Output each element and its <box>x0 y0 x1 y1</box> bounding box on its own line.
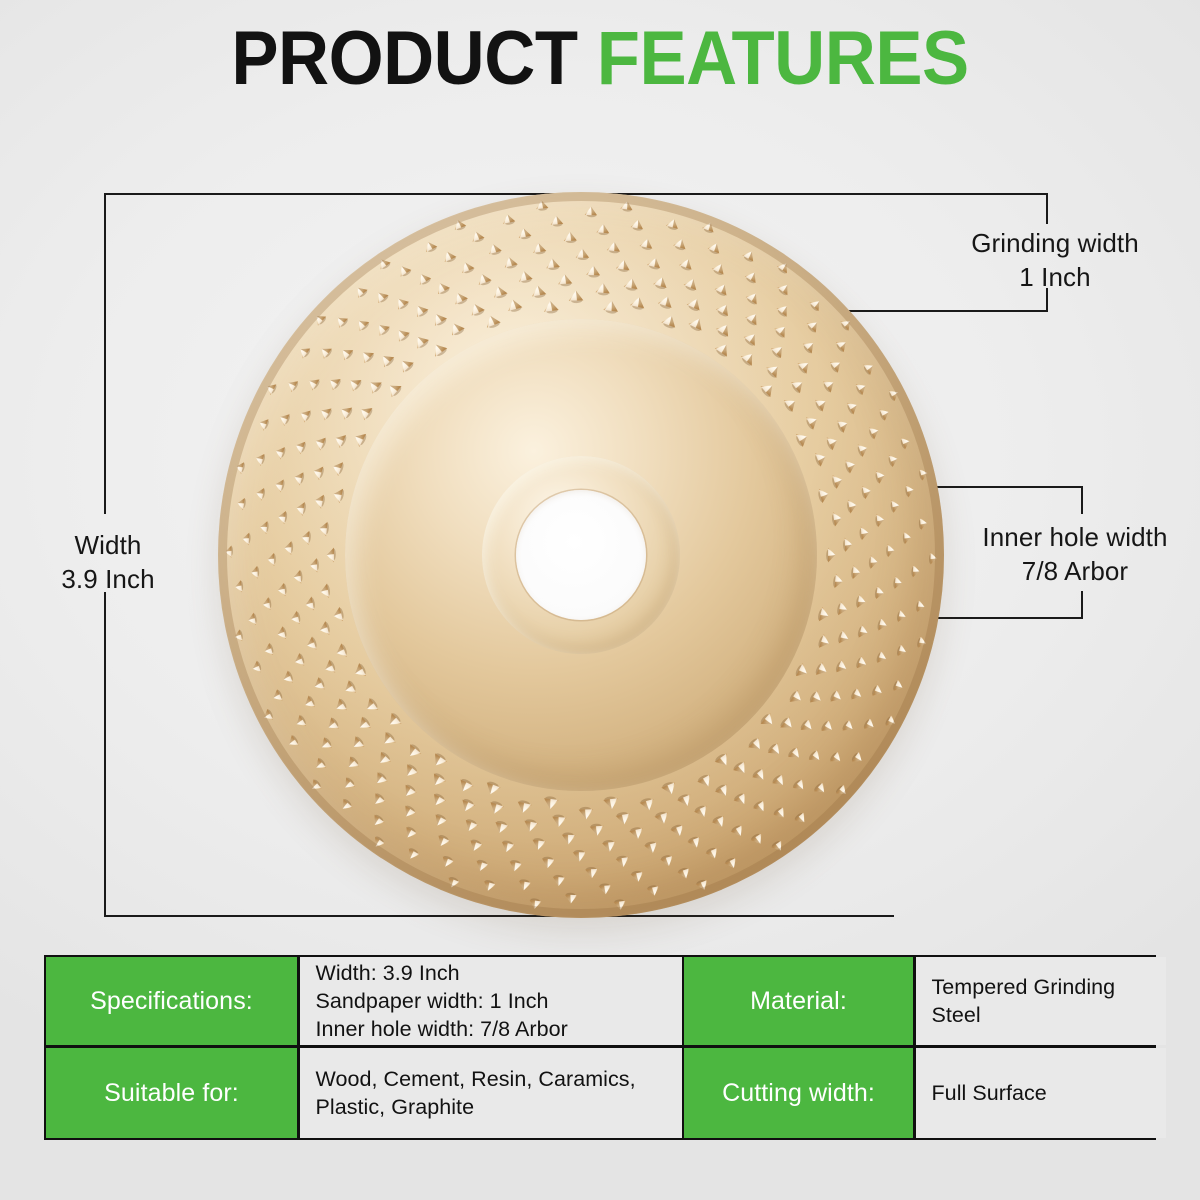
product-features-infographic: PRODUCT FEATURES <box>0 0 1200 1200</box>
callout-overall-width-line2: 3.9 Inch <box>28 562 188 596</box>
spec-key-material-label: Material: <box>750 986 847 1016</box>
spec-key-specifications: Specifications: <box>46 957 297 1045</box>
spec-key-specifications-label: Specifications: <box>90 986 253 1016</box>
spec-value-cutting-width: Full Surface <box>916 1048 1166 1139</box>
callout-grinding-width: Grinding width 1 Inch <box>930 226 1180 294</box>
spec-key-cutting-width: Cutting width: <box>684 1048 913 1139</box>
callout-grinding-width-line1: Grinding width <box>971 228 1139 258</box>
spec-value-specifications-line2: Sandpaper width: 1 Inch <box>316 987 568 1015</box>
callout-inner-hole-width: Inner hole width 7/8 Arbor <box>955 520 1195 588</box>
specifications-table: Specifications: Width: 3.9 Inch Sandpape… <box>44 955 1156 1140</box>
spec-value-material: Tempered Grinding Steel <box>916 957 1166 1045</box>
page-title-part-2: FEATURES <box>597 16 969 101</box>
spec-value-material-line2: Steel <box>932 1001 1116 1029</box>
spec-value-specifications-line3: Inner hole width: 7/8 Arbor <box>316 1015 568 1043</box>
spec-key-material: Material: <box>684 957 913 1045</box>
spec-key-suitable-for-label: Suitable for: <box>104 1078 239 1108</box>
callout-inner-hole-line1: Inner hole width <box>982 522 1167 552</box>
spec-value-suitable-for-line2: Plastic, Graphite <box>316 1093 636 1121</box>
inner-hole-bracket-vertical-upper <box>1081 486 1083 514</box>
page-title-part-1: PRODUCT <box>231 16 577 101</box>
callout-inner-hole-line2: 7/8 Arbor <box>955 554 1195 588</box>
width-bracket-vertical-upper <box>104 194 106 514</box>
callout-grinding-width-line2: 1 Inch <box>930 260 1180 294</box>
callout-overall-width-line1: Width <box>75 530 142 560</box>
product-image <box>218 192 944 918</box>
grinding-disc <box>218 192 944 918</box>
grinding-bracket-vertical-upper <box>1046 194 1048 224</box>
callout-overall-width: Width 3.9 Inch <box>28 528 188 596</box>
spec-key-suitable-for: Suitable for: <box>46 1048 297 1139</box>
spec-key-cutting-width-label: Cutting width: <box>722 1078 875 1108</box>
spec-value-specifications: Width: 3.9 Inch Sandpaper width: 1 Inch … <box>300 957 682 1045</box>
spec-value-cutting-width-line1: Full Surface <box>932 1079 1047 1107</box>
spec-value-specifications-line1: Width: 3.9 Inch <box>316 959 568 987</box>
spec-value-material-line1: Tempered Grinding <box>932 973 1116 1001</box>
inner-hole-bracket-vertical-lower <box>1081 591 1083 619</box>
width-bracket-vertical-lower <box>104 592 106 917</box>
page-title: PRODUCT FEATURES <box>42 16 1158 102</box>
disc-arbor-hole <box>516 490 646 620</box>
spec-value-suitable-for: Wood, Cement, Resin, Caramics, Plastic, … <box>300 1048 682 1139</box>
spec-value-suitable-for-line1: Wood, Cement, Resin, Caramics, <box>316 1065 636 1093</box>
